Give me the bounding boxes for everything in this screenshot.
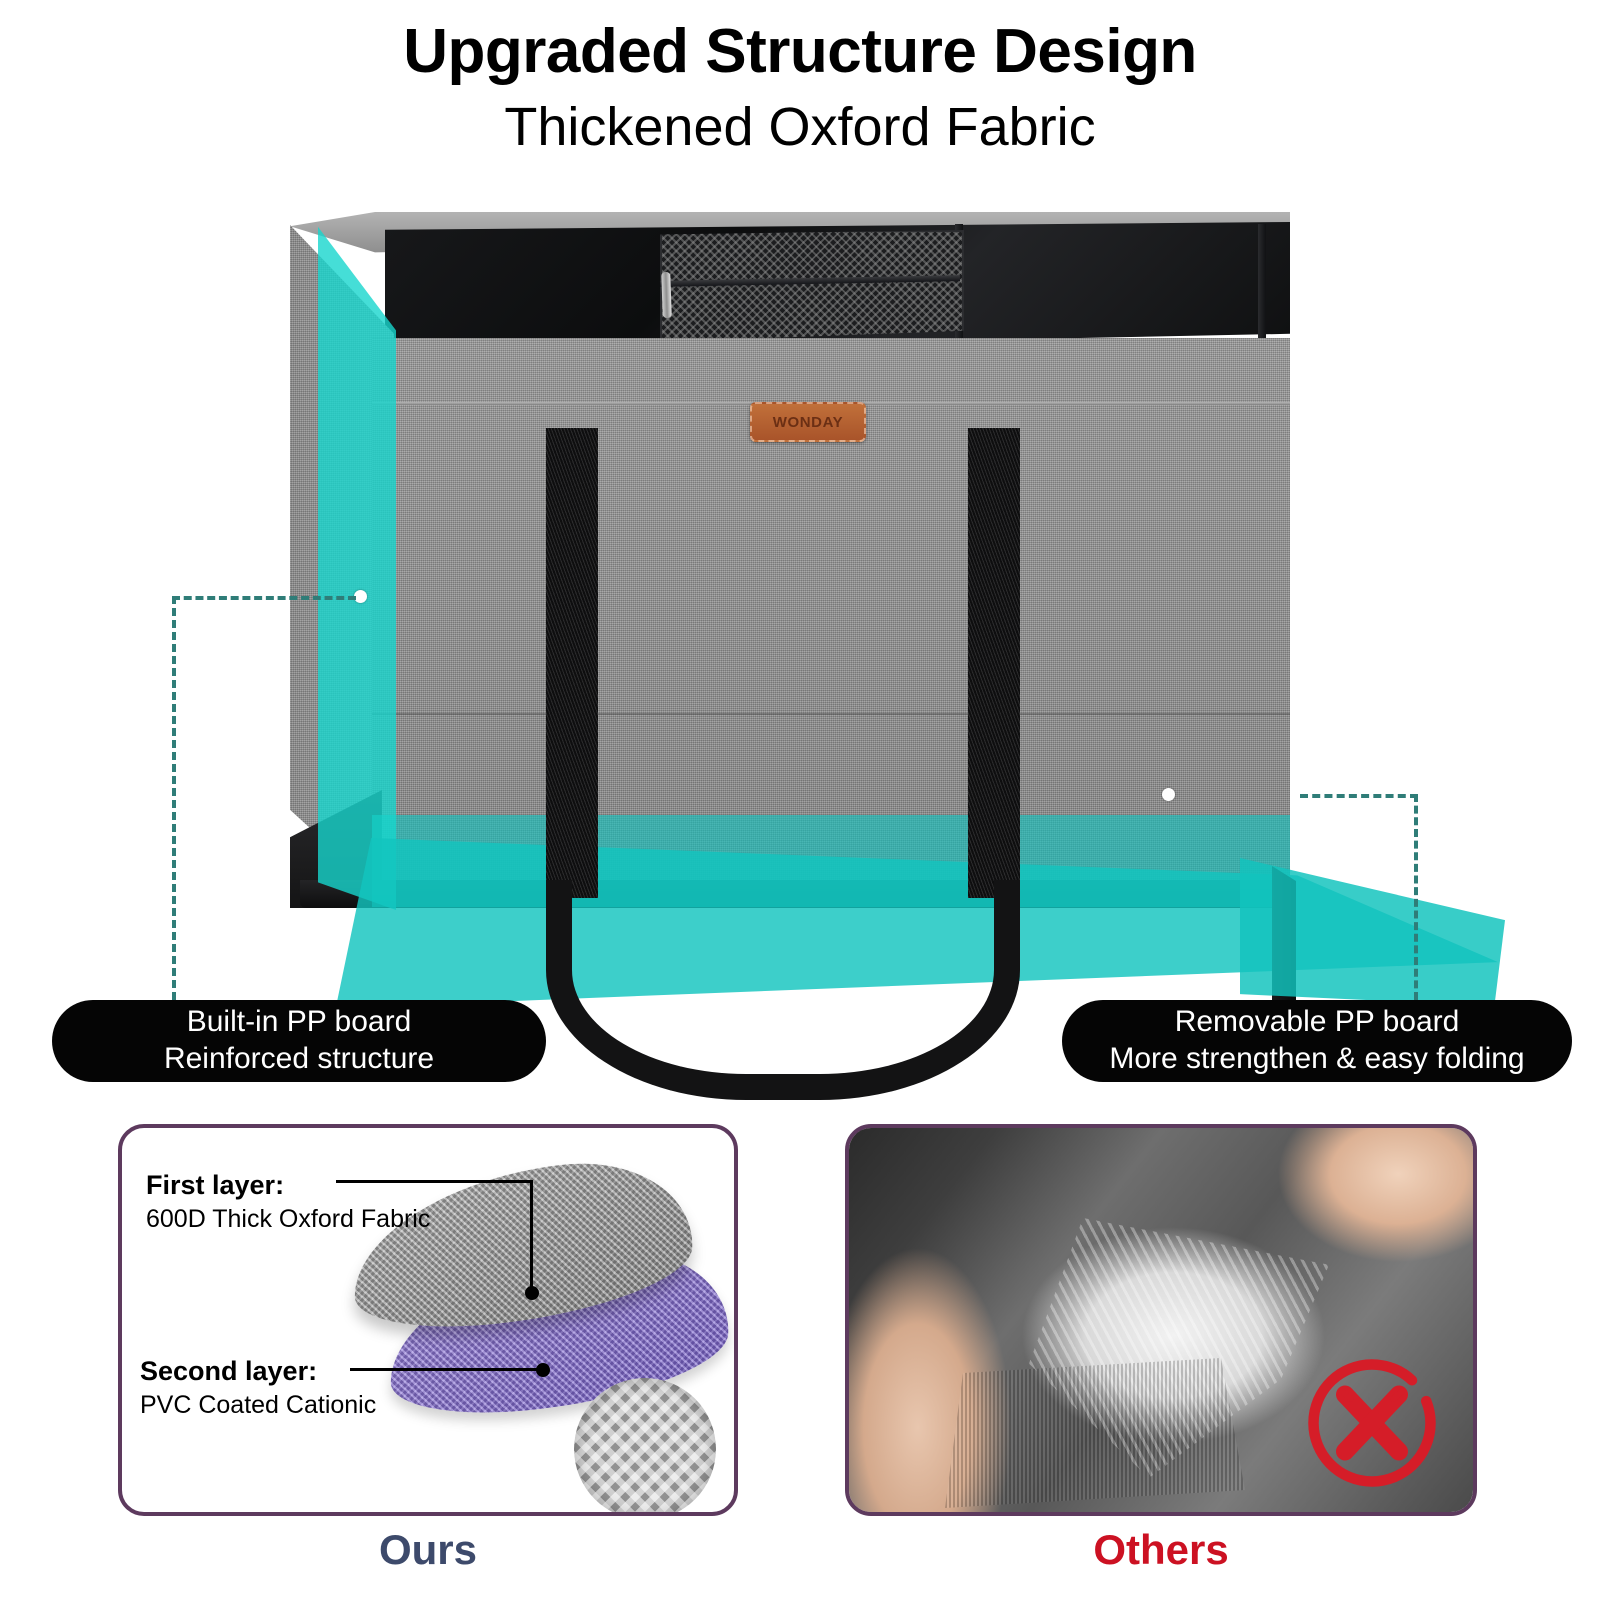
- callout-left-line-2: Reinforced structure: [164, 1041, 434, 1078]
- zipper-pull-icon: [661, 272, 672, 318]
- brand-logo-patch: WONDAY: [750, 402, 866, 442]
- caption-ours: Ours: [118, 1526, 738, 1574]
- comparison-panel-others: [845, 1124, 1477, 1516]
- bag-handle-loop: [546, 880, 1020, 1100]
- callout-right-line-1: Removable PP board: [1175, 1004, 1460, 1041]
- first-layer-desc: 600D Thick Oxford Fabric: [146, 1204, 430, 1234]
- bag-front-seam-bottom: [372, 713, 1290, 715]
- first-layer-leader-horizontal: [336, 1180, 532, 1183]
- first-layer-anchor-dot: [525, 1286, 539, 1300]
- comparison-panel-ours: First layer: 600D Thick Oxford Fabric Se…: [118, 1124, 738, 1516]
- first-layer-leader-vertical: [530, 1180, 533, 1292]
- weave-magnifier-icon: [574, 1378, 716, 1516]
- second-layer-desc: PVC Coated Cationic: [140, 1390, 376, 1420]
- bag-handle-left: [546, 428, 598, 898]
- callout-left-leader-horizontal: [172, 596, 356, 600]
- callout-removable-pp-board: Removable PP board More strengthen & eas…: [1062, 1000, 1572, 1082]
- callout-right-anchor-dot: [1162, 788, 1175, 801]
- callout-right-leader-vertical: [1414, 794, 1418, 1000]
- interior-divider-right: [1258, 224, 1266, 342]
- caption-others: Others: [845, 1526, 1477, 1574]
- product-bag-illustration: WONDAY: [0, 190, 1600, 980]
- callout-built-in-pp-board: Built-in PP board Reinforced structure: [52, 1000, 546, 1082]
- callout-left-leader-vertical: [172, 596, 176, 1000]
- red-x-cross-icon: [1297, 1348, 1447, 1498]
- second-layer-anchor-dot: [536, 1363, 550, 1377]
- callout-right-line-2: More strengthen & easy folding: [1109, 1041, 1524, 1078]
- torn-fabric-weave-texture: [945, 1358, 1245, 1508]
- teal-overlay-right-board: [1240, 858, 1505, 1006]
- callout-left-line-1: Built-in PP board: [187, 1004, 412, 1041]
- bag-handle-right: [968, 428, 1020, 898]
- page-title: Upgraded Structure Design: [0, 18, 1600, 86]
- callout-right-leader-horizontal: [1300, 794, 1418, 798]
- second-layer-title: Second layer:: [140, 1356, 317, 1387]
- first-layer-title: First layer:: [146, 1170, 284, 1201]
- brand-name-label: WONDAY: [773, 414, 844, 431]
- page-subtitle: Thickened Oxford Fabric: [0, 98, 1600, 157]
- second-layer-leader-horizontal: [350, 1368, 542, 1371]
- teal-overlay-side-board: [318, 220, 396, 910]
